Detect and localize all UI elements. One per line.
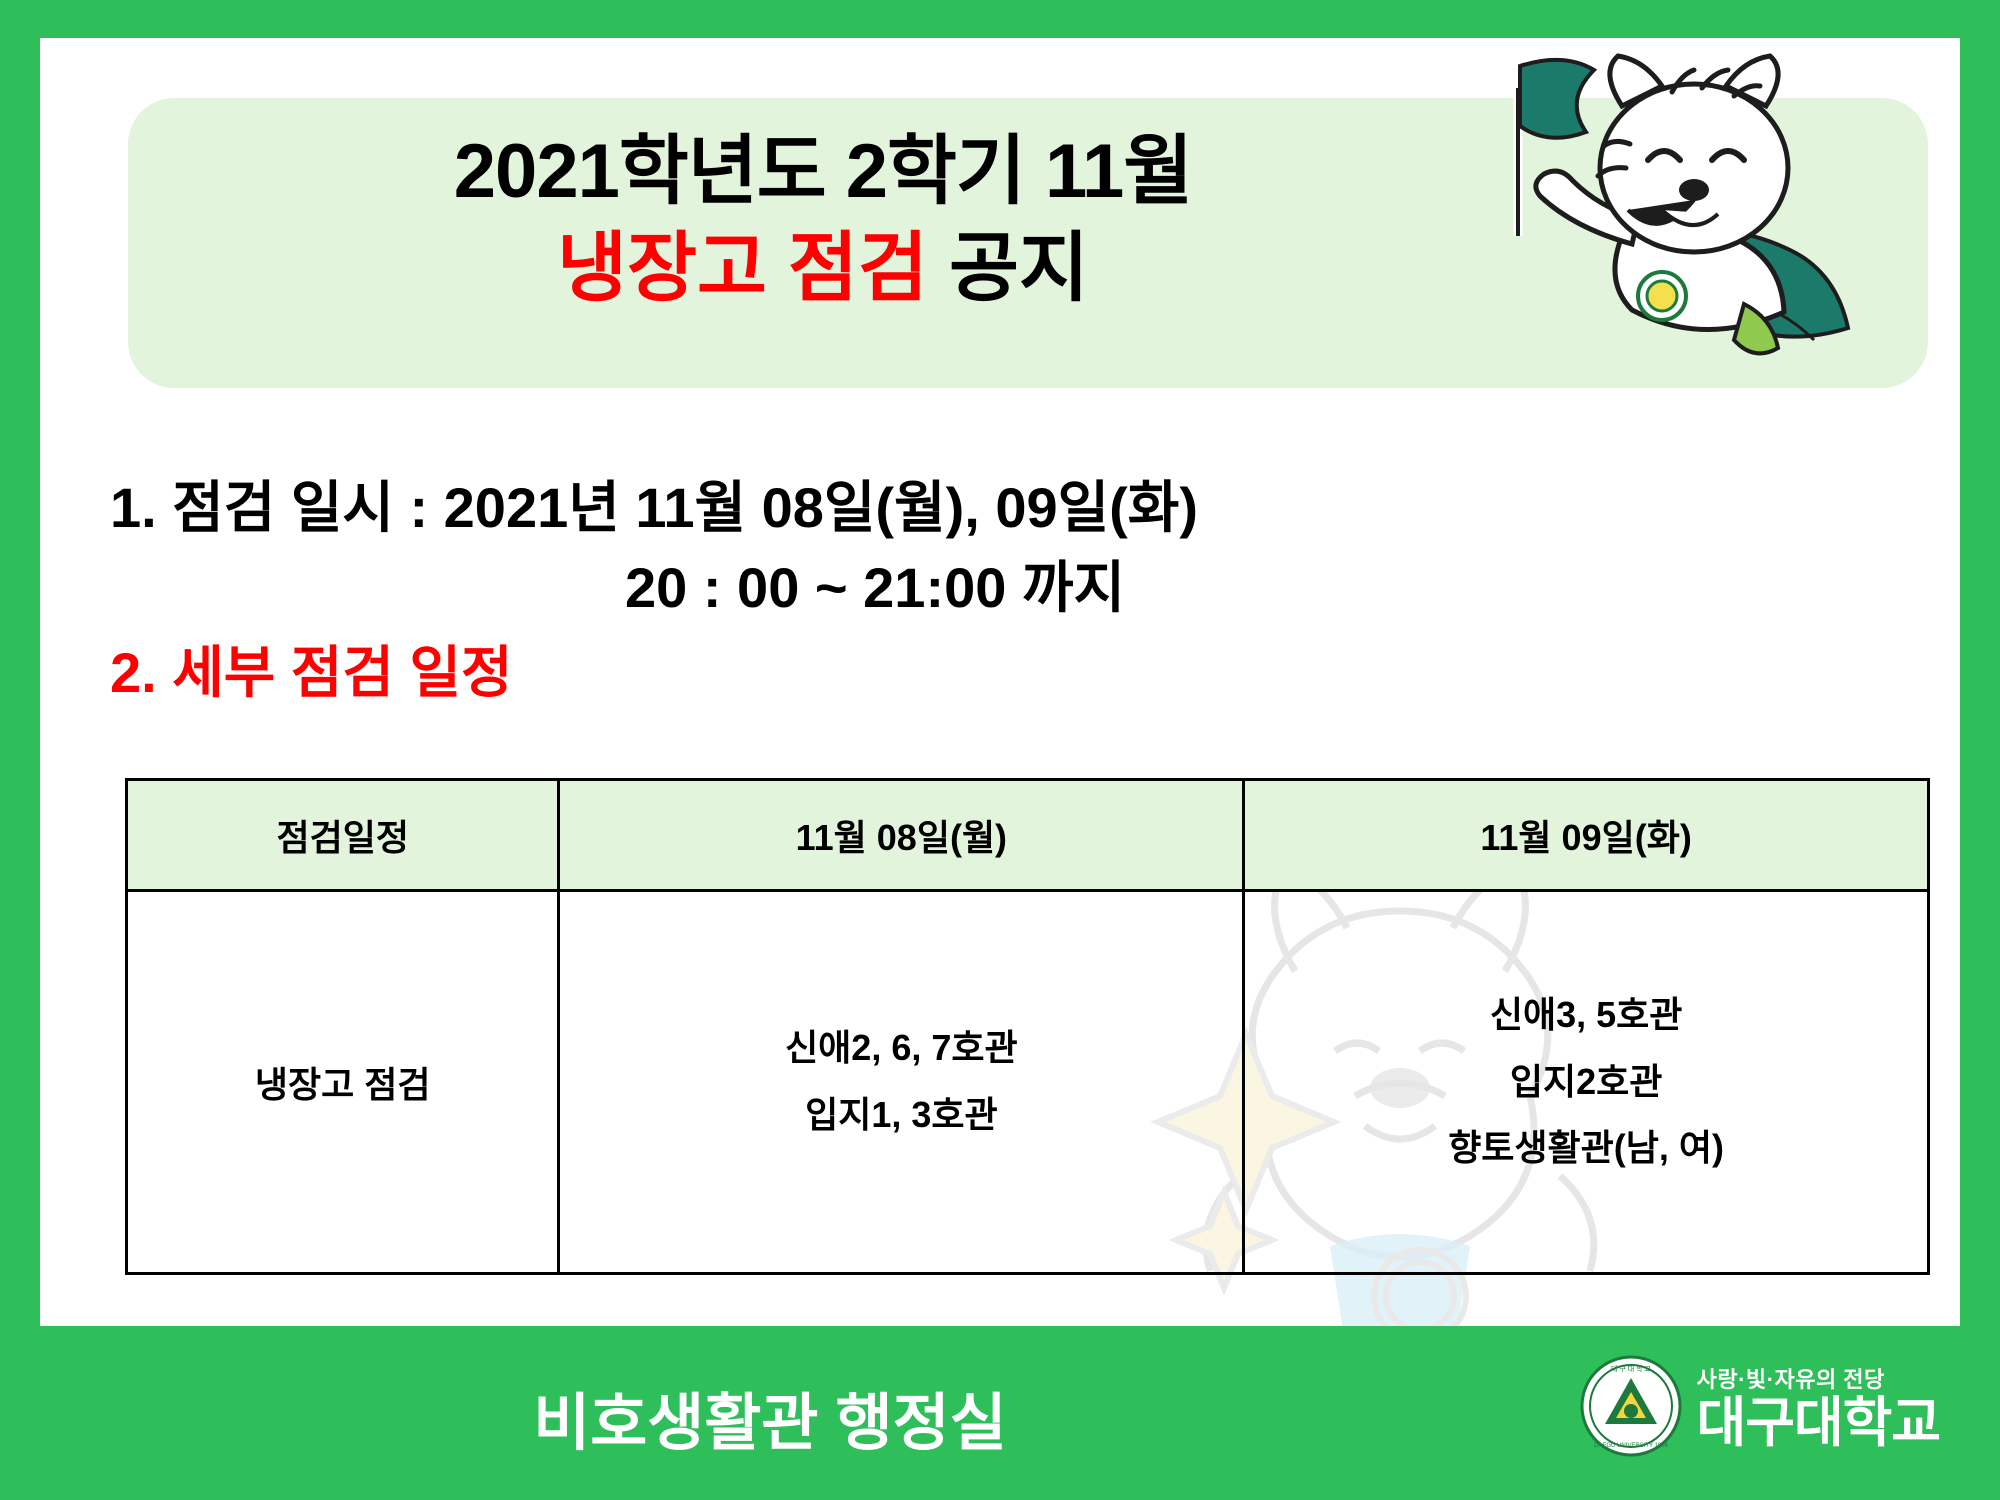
- table-header-cell-schedule: 점검일정: [127, 780, 559, 891]
- page-subtitle: 냉장고 점검 공지: [128, 223, 1518, 316]
- svg-text:대 구 대 학 교: 대 구 대 학 교: [1611, 1364, 1652, 1373]
- svg-text:DAEGU UNIVERSITY 1956: DAEGU UNIVERSITY 1956: [1594, 1443, 1669, 1449]
- inspection-time-range: 20 : 00 ~ 21:00 까지: [110, 543, 1900, 624]
- table-header-cell-day2: 11월 09일(화): [1244, 780, 1929, 891]
- university-logo: 대 구 대 학 교 DAEGU UNIVERSITY 1956 사랑·빛·자유의…: [1579, 1354, 1940, 1458]
- page-subtitle-suffix: 공지: [949, 226, 1089, 311]
- building-line: 입지2호관: [1246, 1049, 1926, 1116]
- table-cell-day2-buildings: 신애3, 5호관 입지2호관 향토생활관(남, 여): [1244, 891, 1929, 1274]
- tiger-mascot-with-flag-icon: [1426, 48, 1896, 378]
- footer-band: 비호생활관 행정실 대 구 대 학 교 DAEGU UNIVERSITY 195…: [0, 1326, 2000, 1500]
- page-title: 2021학년도 2학기 11월: [128, 126, 1518, 219]
- building-line: 향토생활관(남, 여): [1246, 1115, 1926, 1182]
- logo-tagline: 사랑·빛·자유의 전당: [1697, 1362, 1940, 1394]
- table-row: 냉장고 점검 신애2, 6, 7호관 입지1, 3호관 신애3, 5호관 입지2…: [127, 891, 1929, 1274]
- page-subtitle-highlight: 냉장고 점검: [557, 226, 928, 311]
- table-cell-day1-buildings: 신애2, 6, 7호관 입지1, 3호관: [559, 891, 1244, 1274]
- building-line: 입지1, 3호관: [561, 1082, 1241, 1149]
- logo-wordmark: 사랑·빛·자유의 전당 대구대학교: [1697, 1362, 1940, 1450]
- logo-university-name: 대구대학교: [1697, 1396, 1940, 1450]
- schedule-table-wrapper: 점검일정 11월 08일(월) 11월 09일(화) 냉장고 점검 신애2, 6…: [125, 778, 1930, 1275]
- schedule-table: 점검일정 11월 08일(월) 11월 09일(화) 냉장고 점검 신애2, 6…: [125, 778, 1930, 1275]
- table-header-cell-day1: 11월 08일(월): [559, 780, 1244, 891]
- poster-sheet: 2021학년도 2학기 11월 냉장고 점검 공지: [40, 38, 1960, 1326]
- inspection-datetime-item: 1. 점검 일시 : 2021년 11월 08일(월), 09일(화): [110, 463, 1900, 544]
- notice-poster: 2021학년도 2학기 11월 냉장고 점검 공지: [0, 0, 2000, 1500]
- detail-schedule-heading: 2. 세부 점검 일정: [110, 628, 513, 709]
- building-line: 신애2, 6, 7호관: [561, 1015, 1241, 1082]
- table-cell-row-label: 냉장고 점검: [127, 891, 559, 1274]
- daegu-university-seal-icon: 대 구 대 학 교 DAEGU UNIVERSITY 1956: [1579, 1354, 1683, 1458]
- building-line: 신애3, 5호관: [1246, 982, 1926, 1049]
- header-text-block: 2021학년도 2학기 11월 냉장고 점검 공지: [128, 126, 1518, 315]
- table-header-row: 점검일정 11월 08일(월) 11월 09일(화): [127, 780, 1929, 891]
